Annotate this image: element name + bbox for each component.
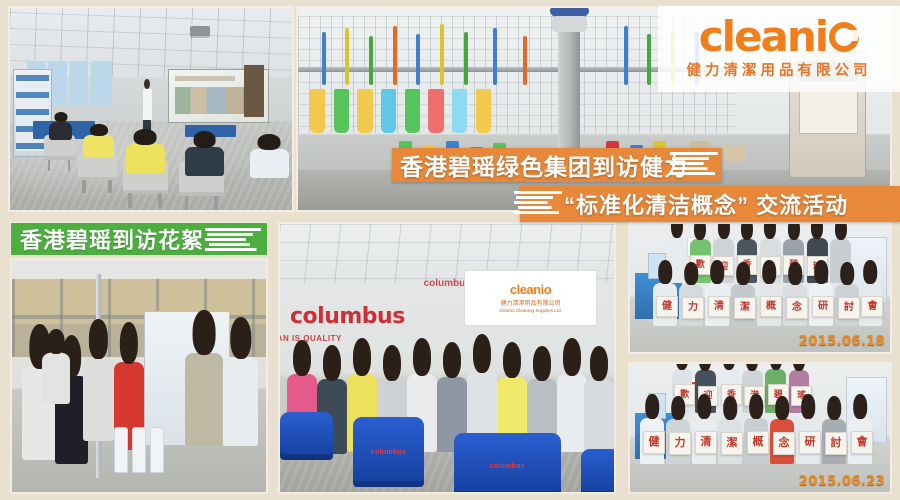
- floor-scrubber-machine: columbus: [454, 433, 561, 494]
- company-logo: cleani 健力清潔用品有限公司: [658, 6, 900, 92]
- floor-scrubber-machine: [280, 412, 333, 460]
- mop-head: [724, 145, 746, 161]
- headline-banner-line-1: 香港碧瑶绿色集团到访健力: [392, 148, 722, 182]
- held-sign: 清: [708, 296, 730, 318]
- floor-scrubber-machine: columbus: [353, 417, 423, 487]
- hanging-cloth: [452, 89, 467, 133]
- held-sign: 概: [760, 296, 782, 318]
- floor-scrubber-machine: [581, 449, 616, 494]
- photo-welcome-sign-group-1: 歡 迎 香 港 碧 瑤 健 力 清 潔 概 念 研 討 會 2015.06.18: [628, 222, 892, 354]
- held-sign: 概: [747, 431, 769, 454]
- hanging-tool: [624, 26, 628, 85]
- held-sign: 力: [682, 297, 704, 319]
- held-sign: 研: [799, 431, 821, 454]
- hanging-tool: [393, 26, 397, 85]
- audience-person: [83, 135, 114, 158]
- hanging-cloth: [310, 89, 325, 133]
- headline-text-2: “标准化清洁概念” 交流活动: [564, 188, 848, 220]
- seminar-scene: [10, 8, 292, 210]
- stripes-decoration-icon: [205, 228, 261, 252]
- photo-welcome-sign-group-2: 歡 迎 香 港 碧 瑤 健 力 清 潔 概 念 研 討 會 2015.06.23: [628, 362, 892, 494]
- hanging-tool: [523, 36, 527, 84]
- photo-seminar-room: [8, 6, 294, 212]
- hanging-tool: [369, 36, 373, 84]
- hanging-tool: [464, 32, 468, 85]
- visit-scene: [12, 260, 266, 492]
- green-banner-text: 香港碧瑶到访花絮: [20, 223, 204, 255]
- held-sign: 研: [812, 296, 834, 318]
- hanging-tool: [416, 34, 420, 85]
- hanging-tool: [322, 32, 326, 85]
- audience-area: [10, 97, 292, 210]
- photo-group-with-machines: columbus AN IS QUALITY columbus cleanio …: [278, 222, 616, 494]
- sign-scene-1: 歡 迎 香 港 碧 瑤 健 力 清 潔 概 念 研 討 會 2015.06.18: [630, 224, 890, 352]
- group-scene: columbus AN IS QUALITY columbus cleanio …: [280, 224, 614, 492]
- audience-person: [126, 144, 165, 173]
- held-sign: 健: [656, 296, 678, 318]
- ceiling-projector: [190, 26, 210, 36]
- group-person: [557, 374, 587, 452]
- headline-text-1: 香港碧瑶绿色集团到访健力: [400, 148, 688, 182]
- columbus-tagline: AN IS QUALITY: [278, 334, 342, 343]
- audience-person: [49, 122, 72, 140]
- green-banner: 香港碧瑶到访花絮: [10, 222, 268, 256]
- logo-chinese-name: 健力清潔用品有限公司: [687, 59, 872, 80]
- held-sign: 清: [695, 431, 717, 454]
- held-sign: 討: [825, 432, 847, 455]
- hanging-tool: [647, 34, 651, 85]
- hanging-cloth: [428, 89, 443, 133]
- hanging-tool: [345, 28, 349, 85]
- held-sign: 念: [773, 432, 795, 455]
- held-sign: 健: [643, 431, 665, 454]
- hanging-cloth: [381, 89, 396, 133]
- hanging-tool: [440, 24, 444, 85]
- cleanio-sign-main: cleanio: [510, 282, 551, 297]
- stripes-decoration-icon: [514, 191, 562, 217]
- audience-person: [185, 147, 224, 176]
- hanging-tool: [493, 28, 497, 85]
- columbus-wall-logo: columbus: [290, 304, 405, 329]
- held-sign: 潔: [734, 297, 756, 319]
- sign-scene-2: 歡 迎 香 港 碧 瑤 健 力 清 潔 概 念 研 討 會 2015.06.23: [630, 364, 890, 492]
- circle-o-mark-icon: [829, 22, 859, 52]
- cleanio-wall-sign: cleanio 健力清潔用品有限公司 Cleanio Cleaning Supp…: [464, 270, 598, 326]
- held-sign: 力: [669, 432, 691, 455]
- date-stamp: 2015.06.23: [799, 474, 885, 489]
- held-sign: 會: [851, 431, 873, 454]
- stripes-decoration-icon: [670, 152, 718, 178]
- visitor: [42, 353, 70, 404]
- cleaning-bottles: [114, 427, 165, 473]
- machine-brand-label: columbus: [489, 463, 524, 470]
- hanging-cloth: [357, 89, 372, 133]
- photo-showroom-visit: [10, 258, 268, 494]
- held-sign: 會: [861, 296, 883, 318]
- photo-collage: 香港碧瑶到访花絮 columbus AN IS QU: [0, 0, 900, 500]
- logo-wordmark: cleani: [699, 18, 827, 56]
- visitor: [185, 353, 223, 446]
- audience-person: [250, 149, 289, 178]
- cleanio-sign-chinese: 健力清潔用品有限公司: [501, 298, 561, 307]
- visitor: [223, 357, 259, 445]
- machine-brand-label: columbus: [371, 449, 406, 456]
- held-sign: 念: [786, 297, 808, 319]
- hanging-cloth: [334, 89, 349, 133]
- held-sign: 討: [838, 297, 860, 319]
- date-stamp: 2015.06.18: [799, 334, 885, 349]
- visitor: [83, 357, 113, 441]
- logo-wordmark-row: cleani: [699, 18, 859, 56]
- cleanio-sign-english: Cleanio Cleaning Supplies Ltd.: [499, 308, 562, 313]
- hanging-cloth: [405, 89, 420, 133]
- held-sign: 潔: [721, 432, 743, 455]
- group-person: [584, 379, 614, 451]
- hanging-cloth: [476, 89, 491, 133]
- headline-banner-line-2: “标准化清洁概念” 交流活动: [520, 186, 900, 222]
